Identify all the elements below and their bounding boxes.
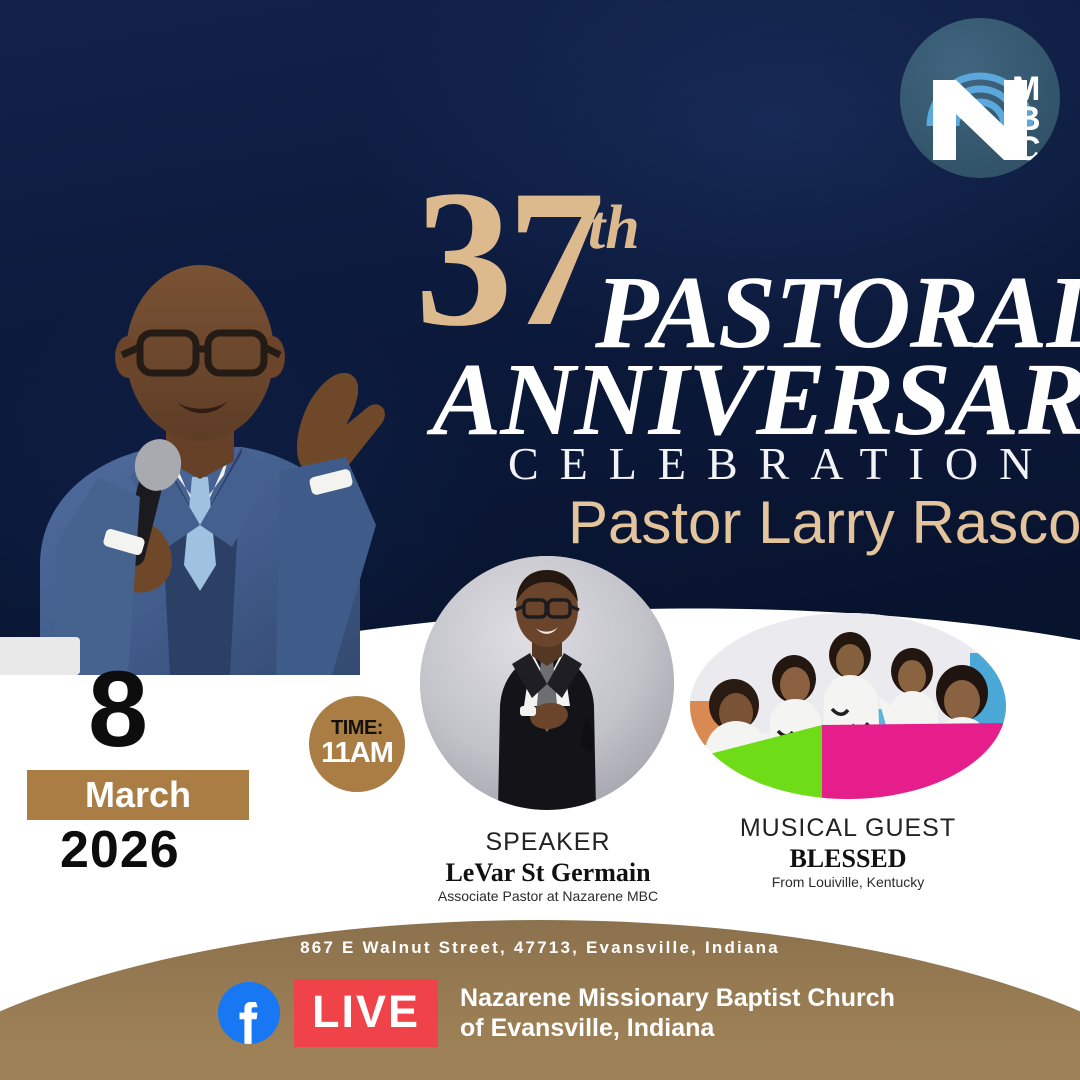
headline-block: 37 th PASTORAL ANNIVERSARY CELEBRATION P… xyxy=(390,185,1080,313)
musical-guest-caption: MUSICAL GUEST BLESSED From Louiville, Ke… xyxy=(700,814,996,891)
event-date-year: 2026 xyxy=(60,824,180,876)
speaker-name: LeVar St Germain xyxy=(400,857,696,888)
time-value: 11AM xyxy=(321,738,393,770)
musical-guest-name: BLESSED xyxy=(700,843,996,874)
nmbc-logo-icon: M B C xyxy=(900,18,1060,178)
church-name-line-1: Nazarene Missionary Baptist Church xyxy=(460,983,895,1014)
event-date-month: March xyxy=(27,770,249,820)
ordinal-suffix: th xyxy=(588,193,640,264)
musical-guest-photo xyxy=(690,613,1006,799)
headline-line-celebration: CELEBRATION xyxy=(508,441,1053,487)
pastoral-anniversary-flyer: M B C xyxy=(0,0,1080,1080)
church-name: Nazarene Missionary Baptist Church of Ev… xyxy=(460,983,895,1044)
time-label: TIME: xyxy=(331,718,383,738)
speaker-role-label: SPEAKER xyxy=(400,828,696,857)
musical-guest-subtitle: From Louiville, Kentucky xyxy=(700,874,996,892)
facebook-live-row: LIVE Nazarene Missionary Baptist Church … xyxy=(218,979,895,1047)
church-name-line-2: of Evansville, Indiana xyxy=(460,1013,895,1044)
headline-line-anniversary: ANNIVERSARY xyxy=(432,348,1080,452)
speaker-caption: SPEAKER LeVar St Germain Associate Pasto… xyxy=(400,828,696,905)
event-time-badge: TIME: 11AM xyxy=(309,696,405,792)
musical-guest-role-label: MUSICAL GUEST xyxy=(700,814,996,843)
speaker-subtitle: Associate Pastor at Nazarene MBC xyxy=(400,888,696,906)
ordinal-number: 37 xyxy=(415,161,599,357)
honoree-name: Pastor Larry Rascoe xyxy=(568,493,1080,553)
facebook-icon[interactable] xyxy=(218,982,280,1044)
church-address: 867 E Walnut Street, 47713, Evansville, … xyxy=(0,938,1080,958)
speaker-photo xyxy=(420,556,674,810)
live-badge: LIVE xyxy=(294,979,438,1047)
event-date-day: 8 xyxy=(88,655,148,763)
event-date-month-bar: March xyxy=(27,770,249,820)
